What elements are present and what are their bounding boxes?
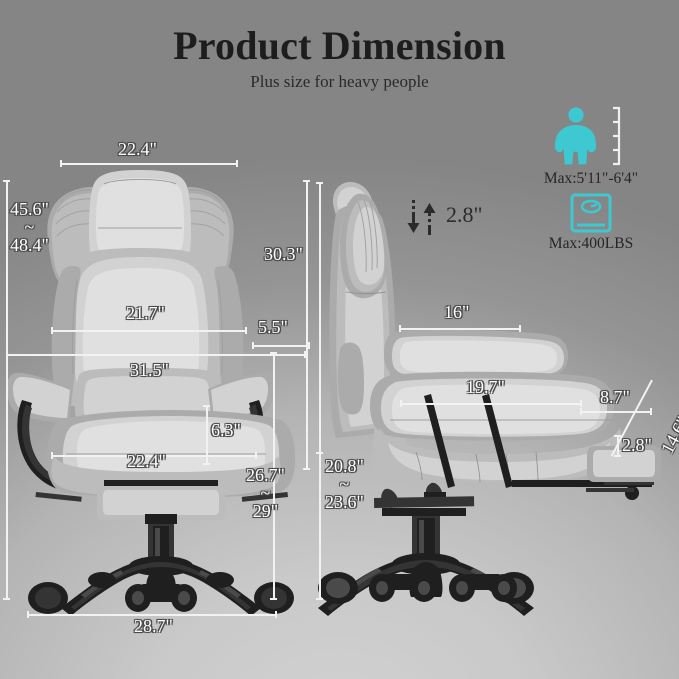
label-seat-back-width: 21.7" [126, 304, 165, 323]
badge-max-height: Max:5'11"-6'4" [516, 106, 666, 188]
dim-line-footrest-length [580, 408, 652, 415]
label-footrest-length: 8.7" [600, 388, 630, 407]
label-seat-height-front-min: 26.7" [246, 466, 285, 484]
label-seat-height-side-min: 20.8" [325, 457, 364, 475]
dim-line-overall-width [6, 351, 306, 358]
dim-line-seat-depth [400, 400, 582, 407]
dim-line-seat-height-side [316, 182, 323, 600]
label-footrest-thickness: 2.8" [622, 436, 652, 455]
label-backrest-height: 30.3" [264, 245, 303, 264]
label-seat-depth: 19.7" [466, 378, 505, 397]
dim-line-backrest-width [60, 160, 238, 167]
page-subtitle: Plus size for heavy people [0, 72, 679, 92]
label-overall-height-max: 45.6" [10, 200, 49, 218]
label-overall-height-tilde: ~ [10, 218, 49, 236]
label-recline-adjust: 2.8" [446, 203, 482, 226]
label-seat-width: 22.4" [127, 452, 166, 471]
product-dimension-infographic: Product Dimension Plus size for heavy pe… [0, 0, 679, 679]
dim-line-overall-height [3, 180, 10, 600]
label-overall-width: 31.5" [130, 361, 169, 380]
label-backrest-width: 22.4" [118, 140, 157, 159]
label-seat-height-front: 26.7" ~ 29" [246, 466, 285, 520]
label-seat-height-side-max: 23.6" [325, 493, 364, 511]
label-seat-height-front-tilde: ~ [246, 484, 285, 502]
dim-line-backrest-depth [399, 325, 521, 332]
label-base-width: 28.7" [134, 617, 173, 636]
heavy-person-with-height-ruler-icon [516, 106, 666, 168]
recline-adjust-arrows-icon [406, 200, 446, 236]
dim-tick-seat-height-side [316, 452, 323, 454]
label-seat-height-front-max: 29" [246, 502, 285, 520]
label-seat-thickness: 6.3" [211, 421, 241, 440]
dim-line-backrest-height [303, 180, 310, 470]
page-title: Product Dimension [0, 22, 679, 69]
label-overall-height-min: 48.4" [10, 236, 49, 254]
dim-line-armrest-offset [252, 342, 310, 349]
label-backrest-depth: 16" [444, 303, 469, 322]
label-seat-height-side: 20.8" ~ 23.6" [325, 457, 364, 511]
label-seat-height-side-tilde: ~ [325, 475, 364, 493]
dim-line-seat-back-width [51, 327, 247, 334]
dim-line-footrest-thickness [614, 435, 621, 457]
label-overall-height: 45.6" ~ 48.4" [10, 200, 49, 254]
label-armrest-offset: 5.5" [258, 318, 288, 337]
